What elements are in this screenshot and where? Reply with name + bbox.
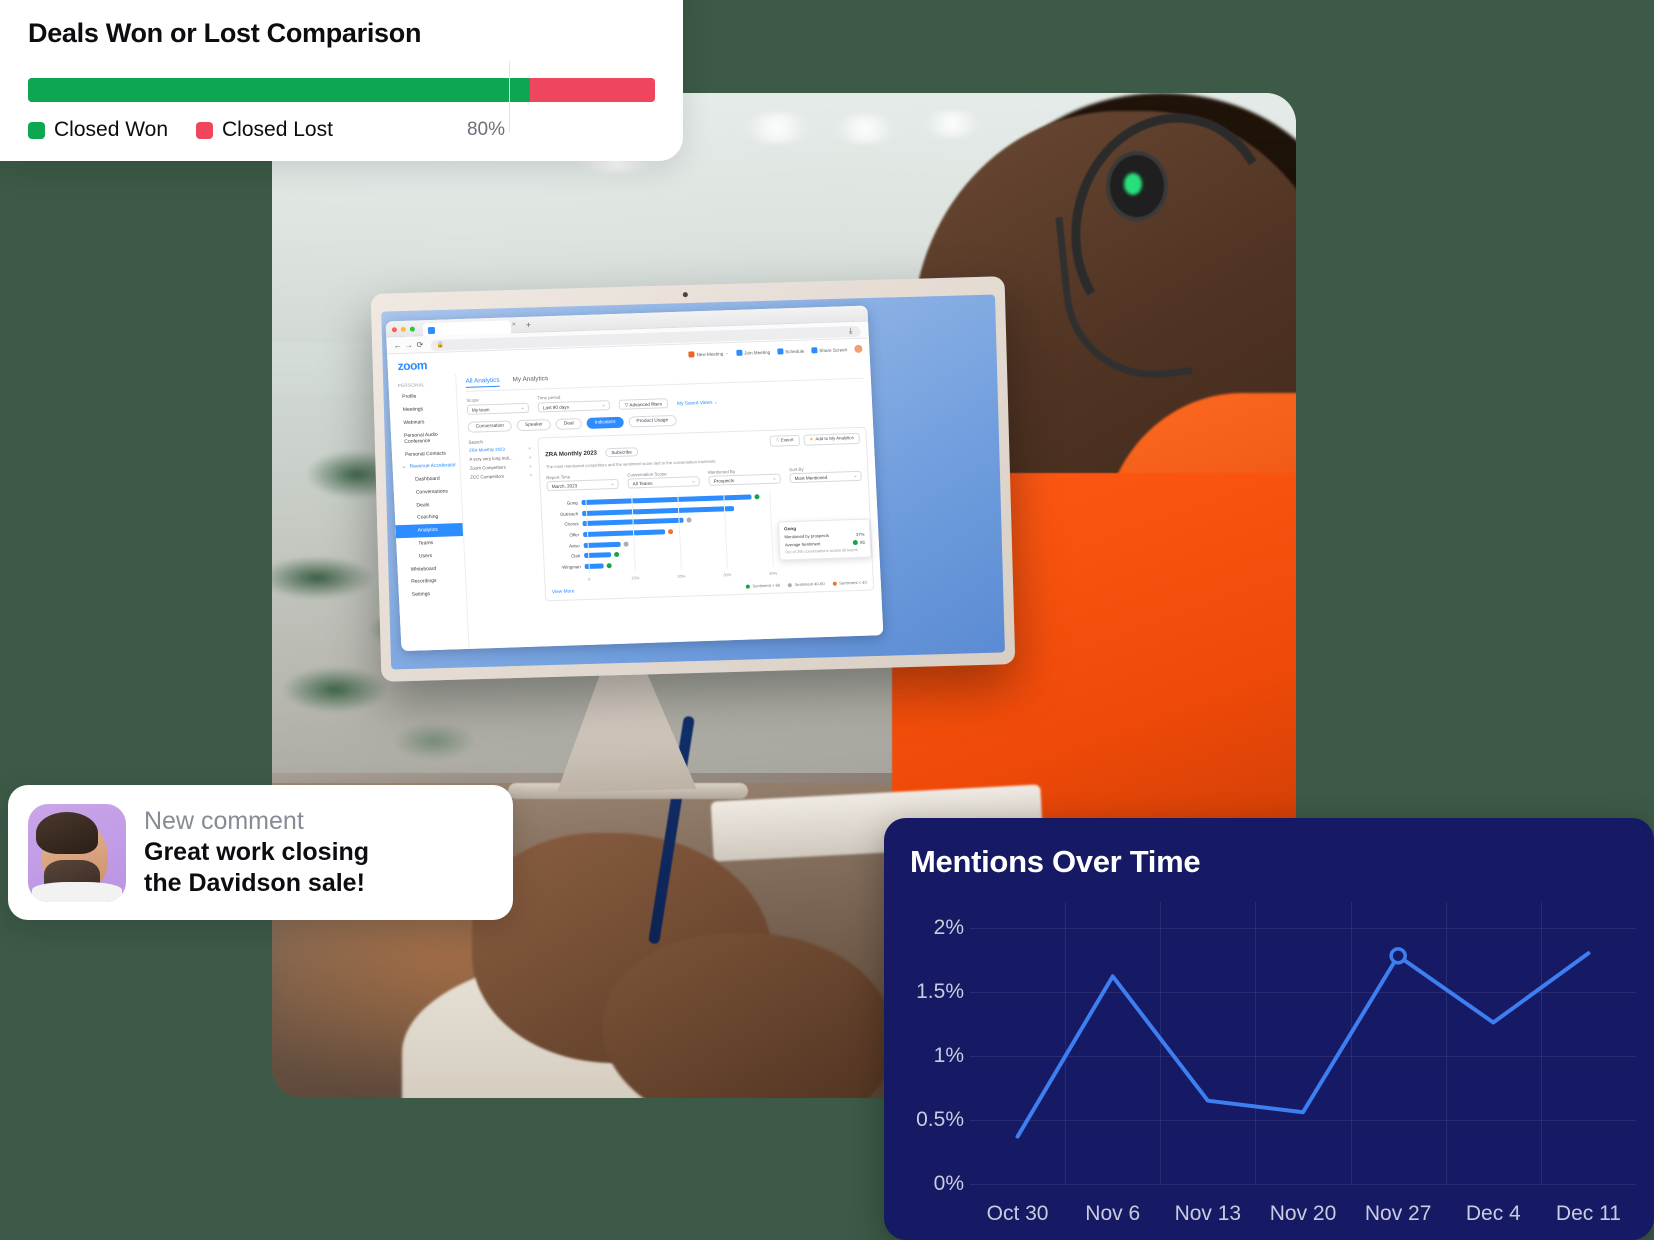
- legend-item: Sentiment > 60: [746, 583, 780, 589]
- bar-label: Clari: [550, 553, 584, 559]
- forward-icon[interactable]: →: [404, 341, 412, 350]
- deals-legend: Closed Won Closed Lost 80%: [28, 118, 655, 142]
- y-axis-tick-label: 1%: [910, 1044, 964, 1068]
- export-label: Export: [781, 437, 794, 442]
- x-axis-tick-label: Dec 4: [1466, 1202, 1521, 1226]
- legend-swatch-lost: [196, 122, 213, 139]
- tooltip-row: Mentioned by prospects 37%: [784, 532, 864, 540]
- search-label: Search: [468, 438, 530, 445]
- share-screen-button[interactable]: Share Screen: [811, 346, 847, 353]
- advanced-filters-button[interactable]: ▽ Advanced filters: [619, 398, 669, 410]
- mentions-line-series: [970, 902, 1636, 1184]
- user-avatar[interactable]: [854, 345, 862, 353]
- sentiment-dot-grey: [624, 541, 629, 546]
- y-axis-tick-label: 0%: [910, 1172, 964, 1196]
- sidebar-item-settings[interactable]: Settings: [399, 587, 467, 602]
- bar-label: Offer: [549, 532, 583, 538]
- report-card: ZRA Monthly 2023 Subscribe ♡ Export Add …: [537, 427, 874, 602]
- tooltip-row-value: 85: [860, 540, 865, 545]
- my-saved-views-label: My Saved Views: [677, 400, 713, 406]
- y-axis-tick-label: 2%: [910, 916, 964, 940]
- comment-text: New comment Great work closing the David…: [144, 807, 369, 898]
- chip-product-usage[interactable]: Product Usage: [628, 414, 676, 427]
- close-tab-icon[interactable]: ×: [512, 321, 516, 328]
- schedule-button[interactable]: Schedule: [777, 348, 804, 355]
- subscribe-button[interactable]: Subscribe: [605, 447, 638, 457]
- x-axis-tick-label: Dec 11: [1556, 1202, 1621, 1226]
- sentiment-dot-orange: [668, 529, 673, 534]
- highlighted-data-point[interactable]: [1391, 949, 1405, 963]
- avatar-hair: [36, 812, 98, 854]
- search-item-label: Zoom Competitors: [470, 464, 506, 470]
- deals-lost-segment: [530, 78, 655, 102]
- tooltip-row-value-wrap: 85: [853, 540, 865, 545]
- legend-dot-green: [746, 584, 750, 588]
- analytics-main: New Meeting ⌄ Join Meeting Schedule: [456, 360, 883, 648]
- zoom-app-body: PERSONAL Profile Meetings Webinars Perso…: [388, 360, 883, 651]
- zoom-logo: zoom: [397, 358, 427, 373]
- imac-monitor: × + ← → ⟳ 🔒 ⤓ zoom: [371, 276, 1016, 682]
- view-more-link[interactable]: View More: [552, 590, 575, 596]
- conversation-scope-filter: Conversation Scope All Teams: [627, 470, 700, 489]
- deals-progress-bar: [28, 78, 655, 102]
- sentiment-dot-green: [754, 494, 759, 499]
- tooltip-row-label: Average Sentiment: [785, 541, 821, 547]
- y-axis-tick-label: 0.5%: [910, 1108, 964, 1132]
- search-item-label: ZRA Monthly 2023: [469, 446, 505, 452]
- browser-window[interactable]: × + ← → ⟳ 🔒 ⤓ zoom: [385, 306, 883, 652]
- legend-item: Sentiment < 40: [833, 580, 867, 586]
- search-panel: Search ZRA Monthly 2023× A very very lon…: [468, 438, 538, 604]
- legend-dot-orange: [833, 582, 837, 586]
- minimize-window-icon[interactable]: [401, 326, 406, 331]
- webcam-icon: [683, 292, 688, 297]
- new-comment-card[interactable]: New comment Great work closing the David…: [8, 785, 513, 920]
- share-screen-icon: [811, 347, 817, 353]
- bar-label: Gong: [547, 500, 581, 506]
- bar-label: Chorus: [548, 521, 582, 527]
- join-meeting-button[interactable]: Join Meeting: [736, 349, 770, 356]
- comment-message-line1: Great work closing: [144, 837, 369, 867]
- download-icon[interactable]: ⤓: [849, 326, 853, 336]
- x-axis-tick-label: Nov 13: [1175, 1202, 1242, 1226]
- report-time-select[interactable]: March, 2023: [546, 479, 618, 491]
- scope-select[interactable]: My team: [467, 402, 529, 414]
- sentiment-dot-green: [614, 552, 619, 557]
- conversation-scope-select[interactable]: All Teams: [627, 477, 699, 489]
- sentiment-dot-green: [607, 563, 612, 568]
- mentions-card-title: Mentions Over Time: [910, 844, 1632, 880]
- remove-icon[interactable]: ×: [529, 455, 532, 460]
- mentioned-by-select[interactable]: Prospects: [708, 474, 780, 486]
- sort-by-select[interactable]: Most Mentioned: [789, 471, 861, 483]
- chip-speaker[interactable]: Speaker: [517, 419, 551, 431]
- new-meeting-label: New Meeting: [696, 351, 723, 357]
- time-period-label: Time period: [537, 393, 609, 400]
- tooltip-title: Gong: [784, 524, 864, 532]
- comment-message-line2: the Davidson sale!: [144, 868, 369, 898]
- x-tick: 40%: [769, 571, 777, 576]
- legend-closed-lost-label: Closed Lost: [222, 118, 333, 142]
- legend-closed-lost: Closed Lost: [196, 118, 333, 142]
- remove-icon[interactable]: ×: [528, 446, 531, 451]
- scope-filter: Scope My team: [466, 396, 529, 415]
- legend-closed-won: Closed Won: [28, 118, 168, 142]
- deals-divider: [509, 61, 510, 133]
- sentiment-dot-green: [853, 540, 858, 545]
- time-period-filter: Time period Last 90 days: [537, 393, 610, 412]
- imac-screen: × + ← → ⟳ 🔒 ⤓ zoom: [381, 294, 1005, 669]
- legend-dot-grey: [788, 583, 792, 587]
- deals-comparison-card: Deals Won or Lost Comparison Closed Won …: [0, 0, 683, 161]
- tab-my-analytics[interactable]: My Analytics: [512, 375, 548, 386]
- bar-label: Outreach: [548, 511, 582, 517]
- x-tick: 30%: [723, 573, 731, 578]
- ceiling-light: [922, 111, 982, 137]
- chevron-down-icon[interactable]: ⌄: [725, 350, 729, 356]
- sentiment-dot-grey: [686, 518, 691, 523]
- tooltip-row: Average Sentiment 85: [785, 540, 865, 548]
- search-item-label: ZCC Competitors: [470, 474, 504, 480]
- comment-heading: New comment: [144, 807, 369, 836]
- bar-label: Wingman: [551, 564, 585, 570]
- filter-icon: ▽: [625, 402, 629, 407]
- chip-conversation[interactable]: Conversation: [467, 420, 512, 433]
- maximize-window-icon[interactable]: [410, 326, 415, 331]
- bar-chart-tooltip: Gong Mentioned by prospects 37% Average …: [778, 519, 872, 560]
- reload-icon[interactable]: ⟳: [416, 340, 423, 349]
- headset-led-icon: [1124, 173, 1142, 195]
- schedule-icon: [777, 348, 783, 354]
- legend-label: Sentiment < 40: [839, 580, 867, 586]
- legend-item: Sentiment 40-60: [788, 581, 825, 587]
- mentions-over-time-card: Mentions Over Time 0%0.5%1%1.5%2%Oct 30N…: [884, 818, 1654, 1240]
- export-button[interactable]: ♡ Export: [769, 435, 799, 447]
- ceiling-light: [832, 115, 898, 143]
- search-item[interactable]: ZCC Competitors×: [470, 473, 532, 480]
- deals-card-title: Deals Won or Lost Comparison: [28, 18, 655, 49]
- sort-by-filter: Sort By Most Mentioned: [789, 465, 862, 484]
- avatar: [28, 804, 126, 902]
- tooltip-note: Out of 200 conversations across all team…: [785, 547, 865, 555]
- ceiling-light: [742, 113, 812, 143]
- sidebar-item-personal-audio-conference[interactable]: Personal Audio Conference: [391, 428, 459, 449]
- search-item-label: A very very long Indi...: [469, 455, 512, 461]
- report-actions: ♡ Export Add to My Analytics: [769, 433, 860, 447]
- legend-label: Sentiment > 60: [752, 583, 780, 589]
- my-saved-views-link[interactable]: My Saved Views ⌄: [677, 400, 718, 407]
- remove-icon[interactable]: ×: [529, 464, 532, 469]
- time-period-select[interactable]: Last 90 days: [538, 400, 610, 412]
- mentions-line-chart: 0%0.5%1%1.5%2%Oct 30Nov 6Nov 13Nov 20Nov…: [910, 902, 1636, 1184]
- join-meeting-icon: [736, 350, 742, 356]
- x-axis-tick-label: Nov 27: [1365, 1202, 1432, 1226]
- legend-closed-won-label: Closed Won: [54, 118, 168, 142]
- mentioned-by-filter: Mentioned By Prospects: [708, 467, 781, 486]
- search-item[interactable]: ZRA Monthly 2023×: [469, 446, 531, 453]
- deals-won-percent: 80%: [467, 119, 505, 141]
- chip-indicators[interactable]: Indicators: [586, 416, 623, 429]
- x-tick: 0: [588, 577, 590, 582]
- report-title: ZRA Monthly 2023: [545, 450, 597, 458]
- add-to-my-analytics-button[interactable]: Add to My Analytics: [803, 433, 860, 446]
- join-meeting-label: Join Meeting: [744, 349, 770, 355]
- schedule-label: Schedule: [785, 348, 804, 354]
- tab-all-analytics[interactable]: All Analytics: [465, 377, 500, 388]
- share-screen-label: Share Screen: [819, 347, 847, 353]
- deals-won-segment: [28, 78, 530, 102]
- close-window-icon[interactable]: [392, 327, 397, 332]
- x-tick: 20%: [677, 574, 685, 579]
- back-icon[interactable]: ←: [393, 341, 401, 350]
- chip-deal[interactable]: Deal: [556, 418, 582, 430]
- tooltip-row-value: 37%: [856, 532, 865, 537]
- export-icon: ♡: [776, 438, 780, 443]
- y-gridline: [970, 1184, 1636, 1185]
- tab-favicon-icon: [428, 326, 435, 333]
- sentiment-legend: Sentiment > 60 Sentiment 40-60 Sentiment…: [746, 580, 867, 589]
- report-time-filter: Report Time March, 2023: [546, 473, 619, 492]
- new-meeting-button[interactable]: New Meeting ⌄: [688, 350, 729, 357]
- y-axis-tick-label: 1.5%: [910, 980, 964, 1004]
- avatar-shirt: [32, 882, 122, 902]
- remove-icon[interactable]: ×: [529, 473, 532, 478]
- bar-label: Aviso: [550, 543, 584, 549]
- tooltip-row-label: Mentioned by prospects: [784, 533, 829, 539]
- analytics-content: Search ZRA Monthly 2023× A very very lon…: [468, 427, 874, 605]
- report-filters: Report Time March, 2023 Conversation Sco…: [546, 465, 862, 492]
- new-tab-icon[interactable]: +: [526, 320, 532, 330]
- search-item[interactable]: A very very long Indi...×: [469, 455, 531, 462]
- search-item[interactable]: Zoom Competitors×: [470, 464, 532, 471]
- x-axis-tick-label: Nov 6: [1085, 1202, 1140, 1226]
- new-meeting-icon: [688, 351, 694, 357]
- advanced-filters-label: Advanced filters: [629, 401, 662, 407]
- lock-icon: 🔒: [437, 341, 445, 348]
- legend-label: Sentiment 40-60: [795, 581, 825, 587]
- x-axis-tick-label: Nov 20: [1270, 1202, 1337, 1226]
- x-axis-tick-label: Oct 30: [987, 1202, 1049, 1226]
- x-tick: 10%: [631, 576, 639, 581]
- legend-swatch-won: [28, 122, 45, 139]
- screenshot-root: × + ← → ⟳ 🔒 ⤓ zoom: [0, 0, 1654, 1240]
- competitor-bar-chart: Gong Outreach Chorus Offer Aviso Clari W…: [547, 488, 866, 584]
